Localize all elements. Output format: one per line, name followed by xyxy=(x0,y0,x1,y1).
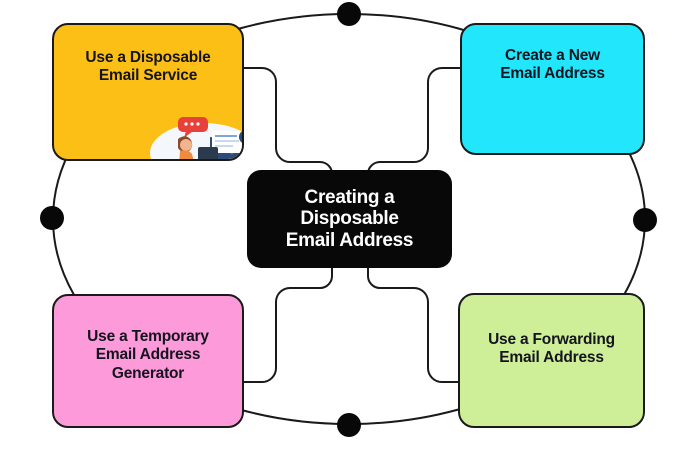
node-card-bottom-right[interactable]: Use a Forwarding Email Address xyxy=(458,293,645,428)
center-node[interactable]: Creating a Disposable Email Address xyxy=(247,170,452,268)
node-label-bottom-right: Use a Forwarding Email Address xyxy=(460,331,643,368)
connector-top-left xyxy=(244,68,332,178)
node-label-bottom-left: Use a Temporary Email Address Generator xyxy=(54,328,242,383)
center-node-label: Creating a Disposable Email Address xyxy=(286,187,413,252)
node-label-top-left: Use a Disposable Email Service xyxy=(54,49,242,86)
node-card-top-right[interactable]: Create a New Email Address xyxy=(460,23,645,155)
connector-dot-bottom xyxy=(337,413,361,437)
person-at-desk-with-email-illustration xyxy=(142,113,244,161)
infographic-canvas: Use a Disposable Email Service xyxy=(0,0,700,450)
node-card-bottom-left[interactable]: Use a Temporary Email Address Generator xyxy=(52,294,244,428)
connector-top-right xyxy=(368,68,460,178)
connector-bottom-left xyxy=(244,260,332,382)
node-label-top-right: Create a New Email Address xyxy=(462,47,643,84)
connector-dot-top xyxy=(337,2,361,26)
connector-dot-right xyxy=(633,208,657,232)
connector-dot-left xyxy=(40,206,64,230)
node-card-top-left[interactable]: Use a Disposable Email Service xyxy=(52,23,244,161)
connector-bottom-right xyxy=(368,260,458,382)
